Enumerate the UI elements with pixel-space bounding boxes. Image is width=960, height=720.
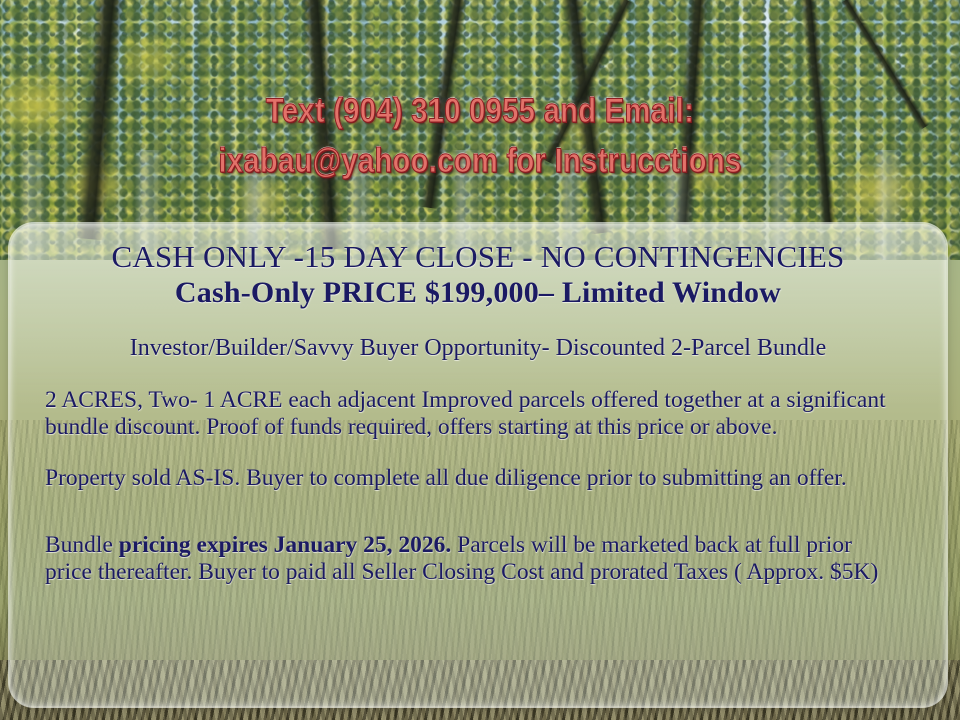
headline-price: Cash-Only PRICE $199,000– Limited Window [38, 275, 918, 311]
flyer-screenshot: Text (904) 310 0955 and Email: ixabau@ya… [0, 0, 960, 720]
expiration-date-bold: pricing expires January 25, 2026. [119, 532, 452, 558]
headline-primary: CASH ONLY -15 DAY CLOSE - NO CONTINGENCI… [38, 238, 918, 276]
expiration-prefix: Bundle [45, 532, 119, 558]
body-paragraph-as-is: Property sold AS-IS. Buyer to complete a… [38, 465, 918, 492]
listing-panel: CASH ONLY -15 DAY CLOSE - NO CONTINGENCI… [8, 222, 948, 708]
body-paragraph-acreage: 2 ACRES, Two- 1 ACRE each adjacent Impro… [38, 387, 918, 441]
body-paragraph-expiration: Bundle pricing expires January 25, 2026.… [38, 532, 918, 586]
listing-content: CASH ONLY -15 DAY CLOSE - NO CONTINGENCI… [10, 224, 946, 586]
subheadline-opportunity: Investor/Builder/Savvy Buyer Opportunity… [38, 333, 918, 363]
